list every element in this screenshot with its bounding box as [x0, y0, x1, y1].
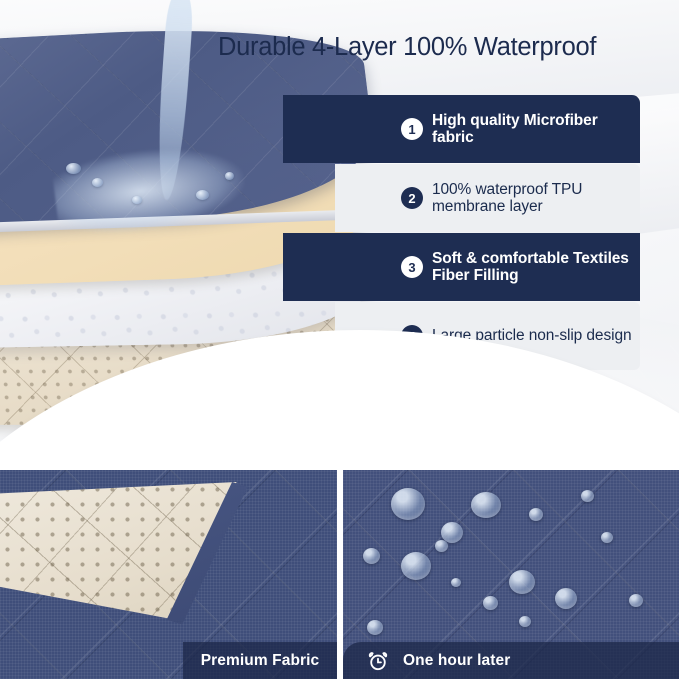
- feature-badge-1: 1: [401, 118, 423, 140]
- water-droplet: [629, 594, 643, 607]
- water-droplet: [555, 588, 577, 609]
- one-hour-later-label: One hour later: [343, 642, 679, 679]
- water-droplet: [601, 532, 613, 543]
- page-title: Durable 4-Layer 100% Waterproof: [218, 33, 658, 62]
- premium-fabric-label: Premium Fabric: [183, 642, 337, 679]
- feature-label-3: Soft & comfortable Textiles Fiber Fillin…: [432, 250, 640, 285]
- water-droplet: [367, 620, 383, 635]
- feature-label-2: 100% waterproof TPU membrane layer: [432, 181, 640, 216]
- water-droplet: [471, 492, 501, 518]
- water-droplet: [519, 616, 531, 627]
- premium-fabric-label-text: Premium Fabric: [201, 652, 320, 670]
- infographic-canvas: Durable 4-Layer 100% Waterproof 1 High q…: [0, 0, 679, 679]
- feature-row-3[interactable]: 3 Soft & comfortable Textiles Fiber Fill…: [283, 233, 640, 301]
- feature-list: 1 High quality Microfiber fabric 2 100% …: [283, 95, 640, 369]
- water-droplet: [509, 570, 535, 594]
- water-droplet: [363, 548, 380, 564]
- water-droplet: [401, 552, 431, 580]
- water-bead: [92, 178, 103, 187]
- feature-row-2[interactable]: 2 100% waterproof TPU membrane layer: [335, 164, 640, 232]
- feature-badge-3: 3: [401, 256, 423, 278]
- water-droplet: [435, 540, 448, 552]
- water-droplet: [483, 596, 498, 610]
- one-hour-later-label-text: One hour later: [403, 652, 510, 670]
- alarm-clock-icon: [367, 650, 389, 672]
- bottom-comparison-panels: Premium Fabric One hour later: [0, 470, 679, 679]
- feature-badge-2: 2: [401, 187, 423, 209]
- feature-row-1[interactable]: 1 High quality Microfiber fabric: [283, 95, 640, 163]
- water-bead: [196, 190, 209, 200]
- water-bead: [66, 163, 81, 174]
- water-bead: [225, 172, 234, 180]
- water-droplet: [529, 508, 543, 521]
- water-droplet: [451, 578, 461, 587]
- layer-diagram-scene: Durable 4-Layer 100% Waterproof 1 High q…: [0, 0, 679, 470]
- water-droplet: [581, 490, 594, 502]
- water-droplet: [391, 488, 425, 520]
- water-bead: [132, 196, 142, 204]
- feature-label-1: High quality Microfiber fabric: [432, 112, 640, 147]
